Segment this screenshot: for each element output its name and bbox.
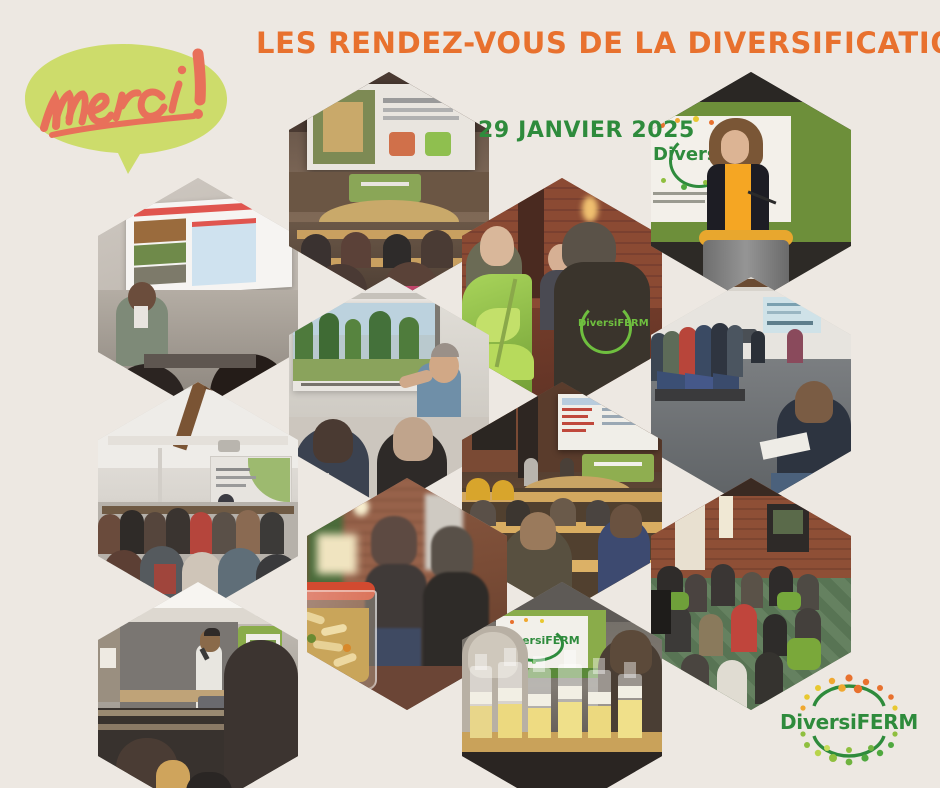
photo-scene: [98, 382, 298, 614]
photo-hex-stage-microphone: [98, 582, 298, 788]
merci-bubble-svg: [22, 42, 230, 176]
logo-arc-top: [814, 686, 884, 706]
photo-hex-attic-conference: [98, 382, 298, 614]
photo-scene: [289, 72, 489, 304]
photo-scene: DiversiFERM: [462, 178, 662, 410]
photo-scene: [98, 178, 298, 410]
photo-scene: Diversi: [651, 72, 851, 304]
logo-wordmark: DiversiFERM: [770, 710, 928, 734]
photo-hex-wool-presentation: [98, 178, 298, 410]
photo-hex-amphitheatre-audience: [289, 72, 489, 304]
photo-hex-agroforestry-slide: [289, 277, 489, 509]
photo-scene: [98, 582, 298, 788]
diversiferm-logo: DiversiFERM: [770, 672, 928, 776]
page-title: LES RENDEZ-VOUS DE LA DIVERSIFICATION: [256, 26, 876, 60]
event-date: 29 JANVIER 2025: [478, 118, 695, 143]
merci-speech-bubble: [22, 42, 230, 176]
photo-hex-roundtable-circle: [651, 277, 851, 509]
photo-scene: [651, 277, 851, 509]
photo-scene: [289, 277, 489, 509]
photo-hex-networking-plants: DiversiFERM: [462, 178, 662, 410]
poster-canvas: LES RENDEZ-VOUS DE LA DIVERSIFICATION 29…: [0, 0, 940, 788]
photo-hex-speaker-podium: Diversi: [651, 72, 851, 304]
